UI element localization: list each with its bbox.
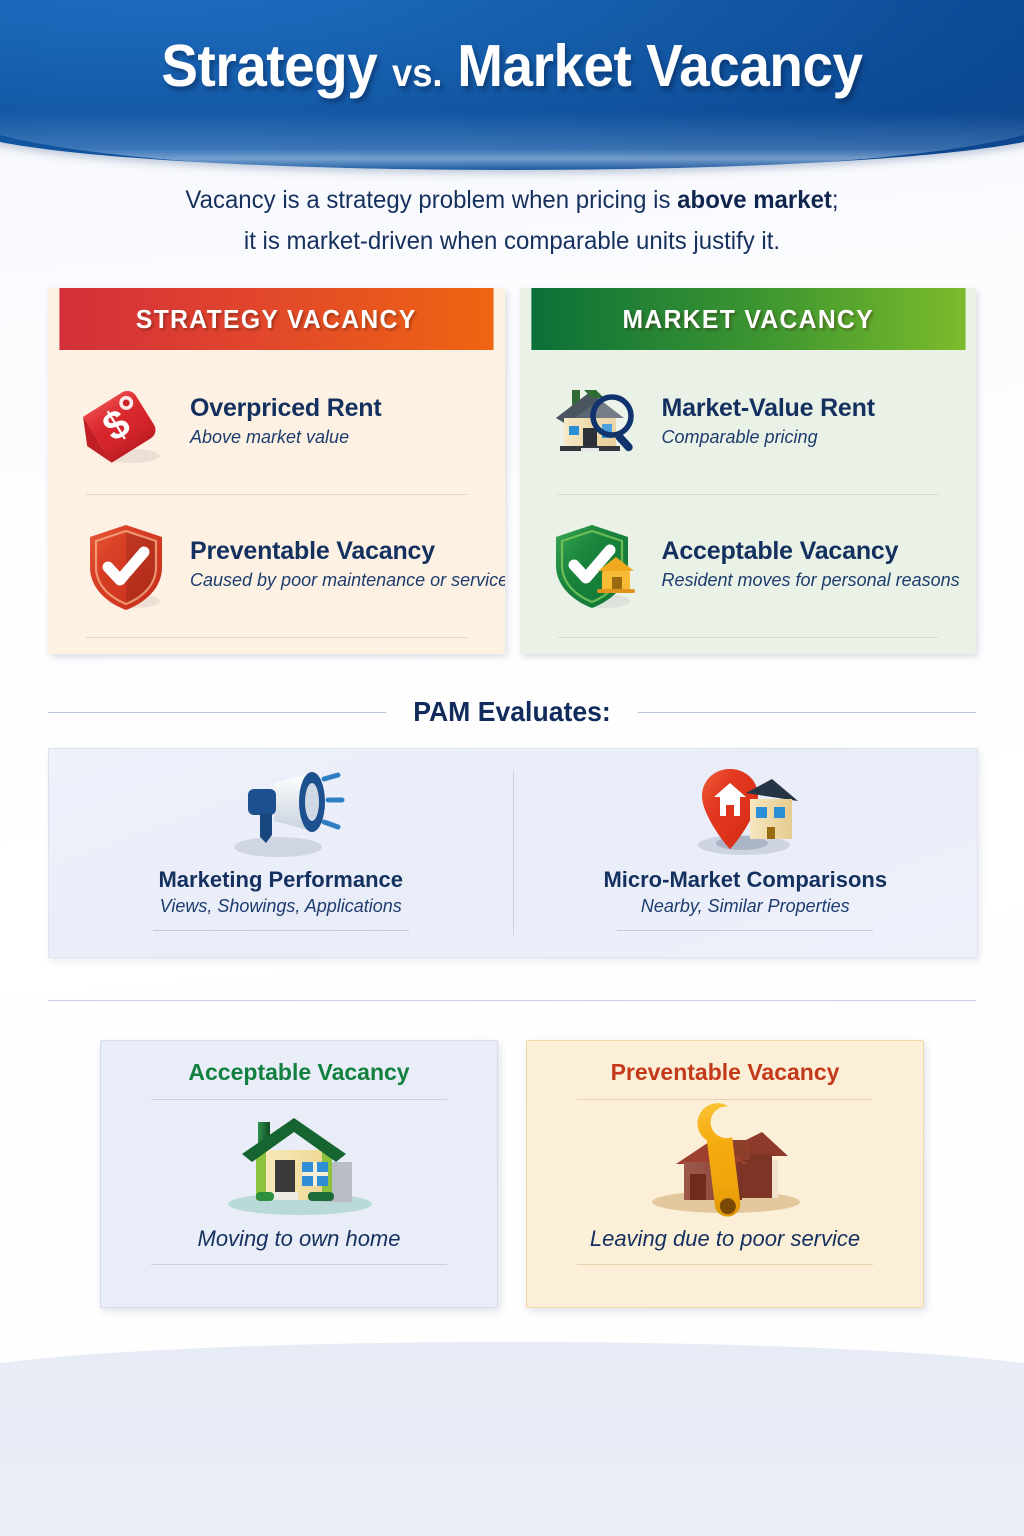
divider	[558, 637, 939, 638]
subtitle-line2: it is market-driven when comparable unit…	[244, 227, 780, 255]
outcome-cards-row: Acceptable Vacancy	[100, 1040, 924, 1308]
card-caption: Moving to own home	[198, 1226, 401, 1252]
market-vacancy-card: MARKET VACANCY	[520, 288, 977, 654]
infographic-poster: Strategy vs. Market Vacancy Vacancy is a…	[0, 0, 1024, 1536]
strategy-vacancy-card-header: STRATEGY VACANCY	[59, 288, 493, 350]
card-caption: Leaving due to poor service	[590, 1226, 860, 1252]
wrench-house-icon	[630, 1106, 820, 1218]
divider-line-right	[638, 712, 976, 713]
card-title: Acceptable Vacancy	[188, 1059, 409, 1086]
divider	[617, 930, 873, 931]
divider	[86, 494, 467, 495]
list-item: Preventable Vacancy Caused by poor maint…	[78, 519, 475, 615]
list-item-title: Acceptable Vacancy	[662, 537, 960, 566]
divider	[151, 1099, 447, 1100]
red-shield-check-icon	[78, 519, 174, 615]
footer-band	[0, 1342, 1024, 1536]
market-vacancy-card-header: MARKET VACANCY	[531, 288, 965, 350]
pam-evaluates-panel: Marketing Performance Views, Showings, A…	[48, 748, 978, 958]
list-item-text: Acceptable Vacancy Resident moves for pe…	[662, 519, 960, 591]
list-item-subtitle: Resident moves for personal reasons	[662, 570, 960, 591]
list-item-title: Preventable Vacancy	[190, 537, 505, 566]
list-item-text: Preventable Vacancy Caused by poor maint…	[190, 519, 505, 591]
comparison-row: STRATEGY VACANCY	[48, 288, 976, 654]
divider	[86, 637, 467, 638]
market-vacancy-card-body: Market-Value Rent Comparable pricing	[520, 350, 977, 654]
pam-section-divider: PAM Evaluates:	[48, 692, 976, 732]
card-title: Preventable Vacancy	[611, 1059, 840, 1086]
list-item-text: Market-Value Rent Comparable pricing	[662, 376, 875, 448]
list-item-title: Overpriced Rent	[190, 394, 382, 423]
list-item-subtitle: Above market value	[190, 427, 382, 448]
list-item-title: Market-Value Rent	[662, 394, 875, 423]
divider	[577, 1099, 873, 1100]
pam-column-title: Micro-Market Comparisons	[603, 867, 887, 893]
strategy-vacancy-card: STRATEGY VACANCY	[48, 288, 505, 654]
pam-column-micro-market-comparisons: Micro-Market Comparisons Nearby, Similar…	[514, 749, 978, 957]
pam-column-marketing-performance: Marketing Performance Views, Showings, A…	[49, 749, 513, 957]
divider	[558, 494, 939, 495]
map-pin-house-icon	[680, 765, 810, 861]
pam-column-subtitle: Nearby, Similar Properties	[641, 896, 850, 917]
green-roof-house-icon	[204, 1106, 394, 1218]
divider	[577, 1264, 873, 1265]
preventable-vacancy-outcome-card: Preventable Vacancy	[526, 1040, 924, 1308]
page-title-part-1: Strategy	[161, 33, 377, 99]
subtitle-line1-post: ;	[832, 186, 839, 214]
list-item: Market-Value Rent Comparable pricing	[550, 376, 947, 472]
strategy-vacancy-card-body: $ Overpriced Rent Above market value	[48, 350, 505, 654]
list-item-subtitle: Caused by poor maintenance or service	[190, 570, 505, 591]
divider	[153, 930, 409, 931]
list-item-text: Overpriced Rent Above market value	[190, 376, 382, 448]
pam-section-label: PAM Evaluates:	[413, 696, 611, 728]
price-tag-icon: $	[78, 376, 174, 472]
list-item: $ Overpriced Rent Above market value	[78, 376, 475, 472]
list-item: Acceptable Vacancy Resident moves for pe…	[550, 519, 947, 615]
subtitle: Vacancy is a strategy problem when prici…	[109, 180, 915, 262]
page-title: Strategy vs. Market Vacancy	[36, 32, 988, 100]
pam-column-title: Marketing Performance	[158, 867, 403, 893]
page-title-vs: vs.	[392, 52, 442, 95]
megaphone-icon	[216, 765, 346, 861]
divider-line-left	[48, 712, 386, 713]
green-shield-check-house-icon	[550, 519, 646, 615]
acceptable-vacancy-outcome-card: Acceptable Vacancy	[100, 1040, 498, 1308]
subtitle-line1-emphasis: above market	[677, 186, 832, 214]
list-item-subtitle: Comparable pricing	[662, 427, 875, 448]
subtitle-line1-pre: Vacancy is a strategy problem when prici…	[185, 186, 677, 214]
section-divider	[48, 1000, 976, 1001]
page-title-part-2: Market Vacancy	[457, 33, 862, 99]
divider	[151, 1264, 447, 1265]
house-magnifier-icon	[550, 376, 646, 472]
pam-column-subtitle: Views, Showings, Applications	[160, 896, 402, 917]
